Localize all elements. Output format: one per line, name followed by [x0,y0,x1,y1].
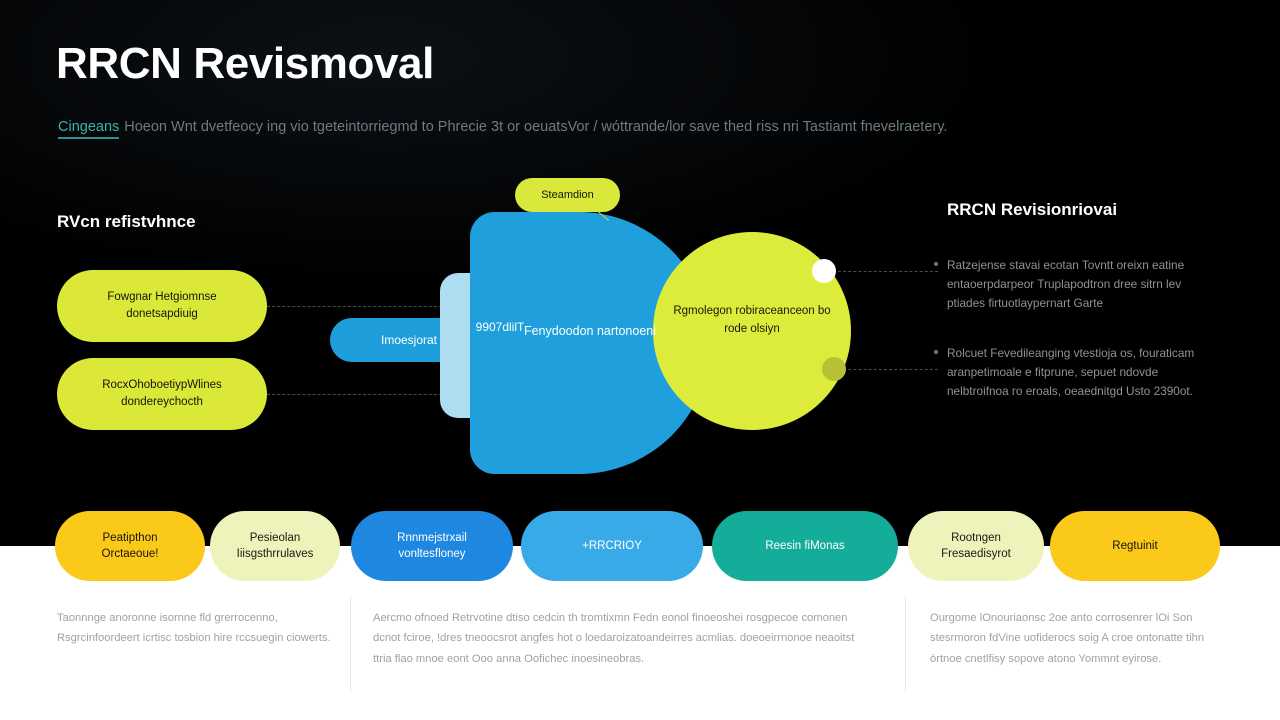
connector-right-1 [838,271,938,272]
footer-column-2: Aercmo ofnoed Retrvotine dtiso cedcin th… [373,608,873,669]
left-pill-1[interactable]: Fowgnar Hetgiomnse donetsapdiuig [57,270,267,342]
left-pill-1-line2: donetsapdiuig [126,306,198,323]
chip-3-line2: vonltesfloney [398,546,465,562]
subtitle-accent-link[interactable]: Cingeans [58,119,119,139]
diagram-blue-blob-label: Fenydoodon nartonoeni [500,322,680,341]
chip-6[interactable]: RootngenFresaedisyrot [908,511,1044,581]
right-bullet-2: Rolcuet Fevedileanging vtestioja os, fou… [947,344,1219,401]
chip-4[interactable]: +RRCRIOY [521,511,703,581]
chip-7[interactable]: Regtuinit [1050,511,1220,581]
chip-5[interactable]: Reesin fiMonas [712,511,898,581]
left-pill-2-line2: dondereychocth [121,394,203,411]
right-bullet-1: Ratzejense stavai ecotan Tovntt oreixn e… [947,256,1219,313]
footer-divider-2 [905,596,906,692]
diagram-yellow-circle-label: Rgmolegon robiraceanceon bo rode olsiyn [668,303,836,339]
bullet-dot-icon [934,262,938,266]
slide-canvas: RRCN Revismoval CingeansHoeon Wnt dvetfe… [0,0,1280,720]
left-column-heading: RVcn refistvhnce [57,212,196,232]
subtitle-text: Hoeon Wnt dvetfeocy ing vio tgeteintorri… [124,119,947,135]
bullet-dot-icon [934,350,938,354]
chip-1[interactable]: PeatipthonOrctaeoue! [55,511,205,581]
chip-5-line1: Reesin fiMonas [765,538,844,554]
white-node-dot-icon[interactable] [812,259,836,283]
connector-left-1 [267,306,447,307]
page-title: RRCN Revismoval [56,40,434,88]
chip-3[interactable]: Rnnmejstrxailvonltesfloney [351,511,513,581]
right-bullet-2-text: Rolcuet Fevedileanging vtestioja os, fou… [947,346,1194,398]
footer-divider-1 [350,596,351,692]
chip-2[interactable]: PesieolanIiisgsthrrulaves [210,511,340,581]
footer-column-1: Taonnnge anoronne isornne fld grerrocenn… [57,608,337,649]
left-pill-2-line1: RocxOhoboetiypWlines [102,377,222,394]
chip-6-line1: Rootngen [951,530,1001,546]
chip-7-line1: Regtuinit [1112,538,1157,554]
chip-2-line1: Pesieolan [250,530,301,546]
chip-3-line1: Rnnmejstrxail [397,530,467,546]
connector-right-2 [838,369,938,370]
olive-node-dot-icon[interactable] [822,357,846,381]
chip-1-line1: Peatipthon [103,530,158,546]
connector-left-2 [267,394,447,395]
chip-2-line2: Iiisgsthrrulaves [237,546,314,562]
diagram-badge[interactable]: Steamdion [515,178,620,212]
footer-column-3: Ourgome lOnouriaonsc 2oe anto corrosenre… [930,608,1220,669]
right-bullet-1-text: Ratzejense stavai ecotan Tovntt oreixn e… [947,258,1184,310]
left-pill-1-line1: Fowgnar Hetgiomnse [107,289,216,306]
chip-4-line1: +RRCRIOY [582,538,642,554]
right-column-heading: RRCN Revisionriovai [947,200,1117,220]
chip-6-line2: Fresaedisyrot [941,546,1011,562]
left-pill-2[interactable]: RocxOhoboetiypWlines dondereychocth [57,358,267,430]
subtitle: CingeansHoeon Wnt dvetfeocy ing vio tget… [58,117,947,139]
chip-1-line2: Orctaeoue! [102,546,159,562]
